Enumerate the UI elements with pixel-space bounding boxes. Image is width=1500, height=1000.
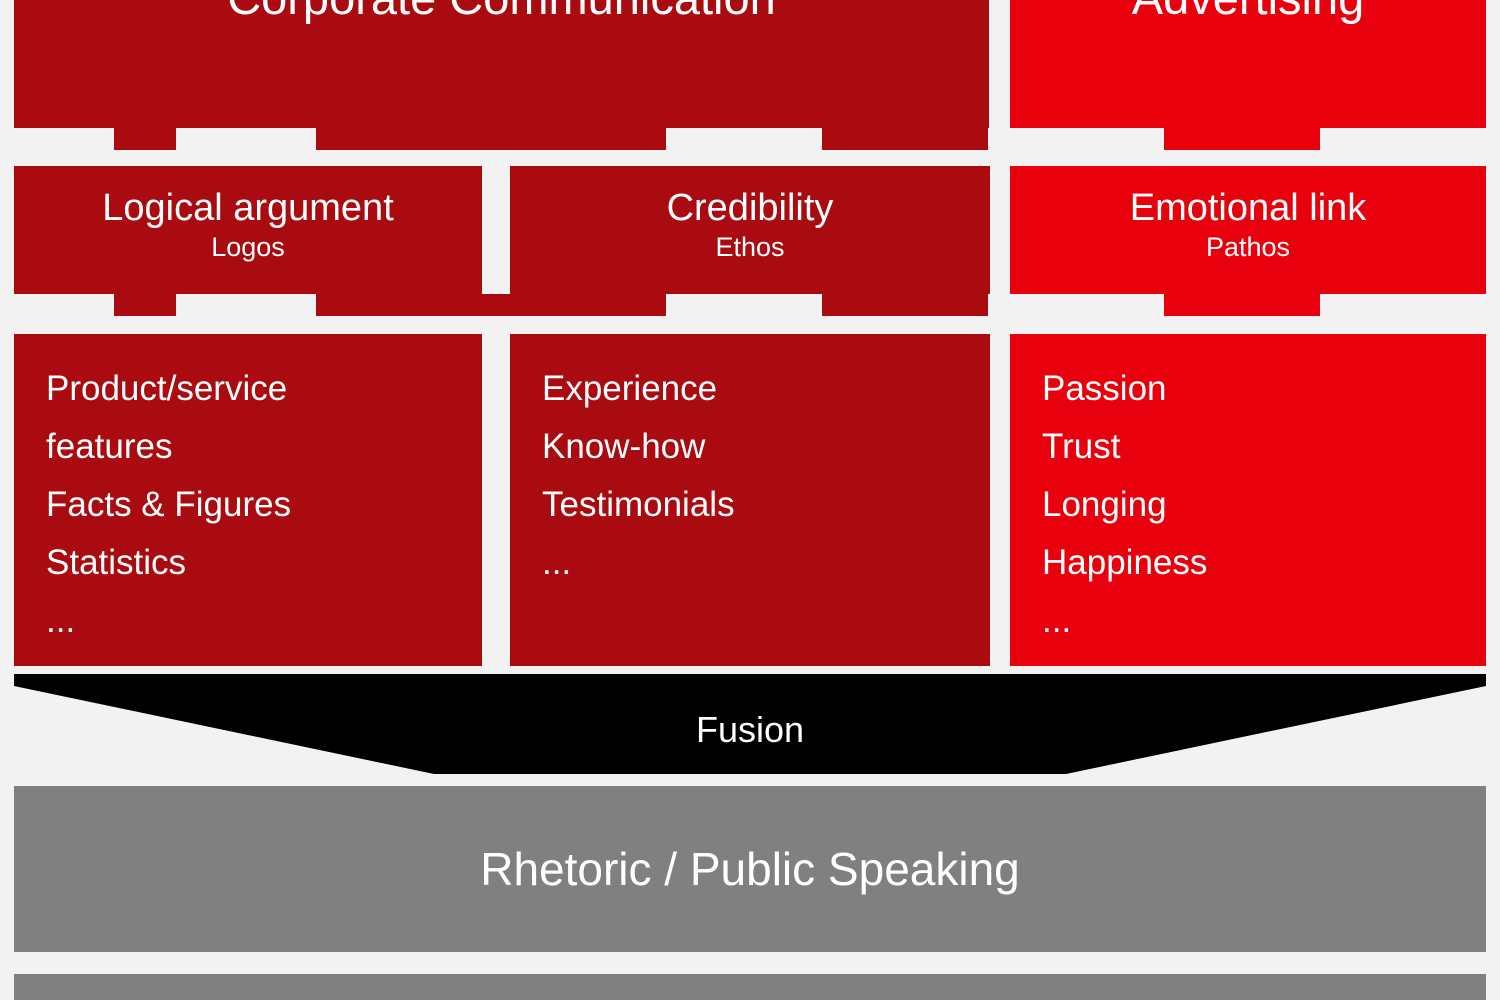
detail-item: Statistics <box>46 534 482 592</box>
fusion-label: Fusion <box>14 710 1486 750</box>
appeal-subtitle-pathos: Pathos <box>1206 232 1290 262</box>
appeal-title-ethos: Credibility <box>667 188 834 228</box>
header-row: Corporate Communication Advertising <box>14 0 1486 128</box>
detail-item: ... <box>542 534 990 592</box>
detail-item: Facts & Figures <box>46 476 482 534</box>
connector-header-logos <box>114 128 176 150</box>
connector-header-ethos <box>822 128 988 150</box>
detail-box-logos: Product/service features Facts & Figures… <box>14 334 482 666</box>
detail-item: Passion <box>1042 360 1486 418</box>
detail-item: ... <box>1042 592 1486 650</box>
appeal-box-logos: Logical argument Logos <box>14 166 482 294</box>
corporate-communication-box: Corporate Communication <box>14 0 989 128</box>
connector-header-pathos <box>1164 128 1320 150</box>
rhetoric-label: Rhetoric / Public Speaking <box>480 844 1020 894</box>
detail-item: Trust <box>1042 418 1486 476</box>
appeal-box-pathos: Emotional link Pathos <box>1010 166 1486 294</box>
detail-item: ... <box>46 592 482 650</box>
advertising-box: Advertising <box>1010 0 1486 128</box>
detail-box-pathos: Passion Trust Longing Happiness ... <box>1010 334 1486 666</box>
appeal-subtitle-ethos: Ethos <box>715 232 784 262</box>
connector-appeal-mid <box>316 294 666 316</box>
detail-item: Testimonials <box>542 476 990 534</box>
detail-box-ethos: Experience Know-how Testimonials ... <box>510 334 990 666</box>
detail-item: features <box>46 418 482 476</box>
rhetoric-bar: Rhetoric / Public Speaking <box>14 786 1486 952</box>
advertising-title: Advertising <box>1132 0 1365 20</box>
connector-appeal-logos <box>114 294 176 316</box>
detail-item: Know-how <box>542 418 990 476</box>
detail-item: Experience <box>542 360 990 418</box>
corporate-communication-title: Corporate Communication <box>227 0 776 20</box>
connector-appeal-ethos <box>822 294 988 316</box>
connector-header-mid <box>316 128 666 150</box>
appeal-box-ethos: Credibility Ethos <box>510 166 990 294</box>
detail-item: Happiness <box>1042 534 1486 592</box>
connector-appeal-pathos <box>1164 294 1320 316</box>
fusion-funnel: Fusion <box>14 674 1486 782</box>
appeal-subtitle-logos: Logos <box>211 232 285 262</box>
appeal-title-pathos: Emotional link <box>1130 188 1367 228</box>
detail-item: Product/service <box>46 360 482 418</box>
bottom-strip <box>14 974 1486 1000</box>
diagram-canvas: Corporate Communication Advertising Logi… <box>0 0 1500 1000</box>
detail-row: Product/service features Facts & Figures… <box>14 334 1486 666</box>
appeal-row: Logical argument Logos Credibility Ethos… <box>14 166 1486 294</box>
appeal-title-logos: Logical argument <box>102 188 394 228</box>
detail-item: Longing <box>1042 476 1486 534</box>
